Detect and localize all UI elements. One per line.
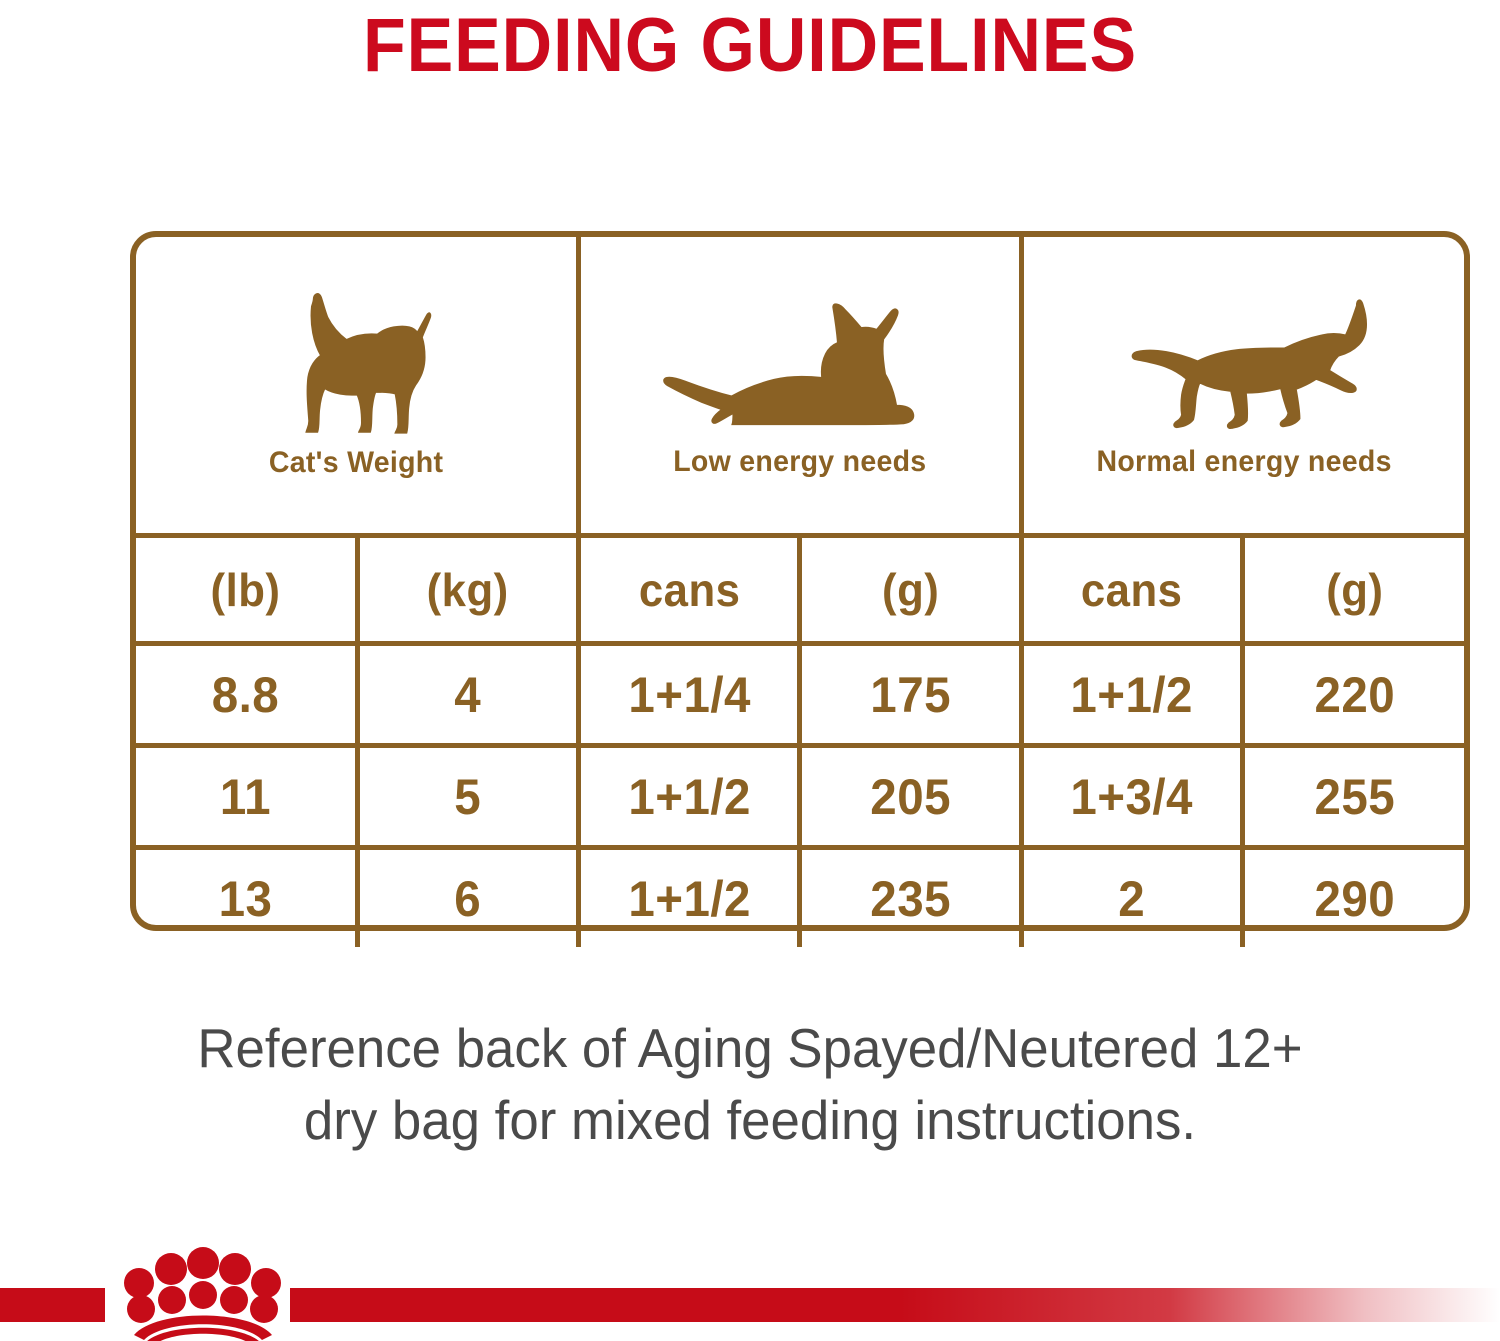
cat-walking-icon bbox=[1096, 291, 1392, 439]
cell-normal-cans: 2 bbox=[1027, 848, 1237, 948]
cat-standing-icon bbox=[261, 290, 452, 440]
reference-note-line-2: dry bag for mixed feeding instructions. bbox=[30, 1084, 1470, 1156]
cell-weight-lb: 13 bbox=[142, 848, 352, 948]
cell-low-cans: 1+1/4 bbox=[584, 644, 794, 746]
cell-normal-g: 255 bbox=[1248, 746, 1458, 848]
cell-low-g: 205 bbox=[806, 746, 1016, 848]
feeding-guidelines-table: Cat's Weight Low energy needs Normal ene… bbox=[130, 231, 1470, 931]
column-header-lb: (lb) bbox=[142, 536, 352, 644]
cell-low-g: 235 bbox=[806, 848, 1016, 948]
cell-weight-kg: 4 bbox=[363, 644, 573, 746]
column-header-norm-g: (g) bbox=[1248, 536, 1458, 644]
group-header-label: Cat's Weight bbox=[147, 446, 565, 480]
cell-low-cans: 1+1/2 bbox=[584, 746, 794, 848]
column-header-norm-cans: cans bbox=[1027, 536, 1237, 644]
cat-lying-icon bbox=[652, 291, 948, 439]
group-header-label: Normal energy needs bbox=[1035, 445, 1453, 479]
group-header-cats-weight: Cat's Weight bbox=[136, 237, 579, 536]
table-row: 13 6 1+1/2 235 2 290 bbox=[136, 848, 1464, 948]
column-header-low-g: (g) bbox=[806, 536, 1016, 644]
cell-low-g: 175 bbox=[806, 644, 1016, 746]
group-header-label: Low energy needs bbox=[592, 445, 1008, 479]
group-header-normal-energy: Normal energy needs bbox=[1021, 237, 1464, 536]
cell-weight-lb: 11 bbox=[142, 746, 352, 848]
cell-normal-g: 290 bbox=[1248, 848, 1458, 948]
cell-weight-kg: 6 bbox=[363, 848, 573, 948]
reference-note: Reference back of Aging Spayed/Neutered … bbox=[30, 1012, 1470, 1156]
page-title: FEEDING GUIDELINES bbox=[60, 0, 1440, 92]
table-column-header-row: (lb) (kg) cans (g) cans (g) bbox=[136, 536, 1464, 644]
royal-canin-crown-logo bbox=[104, 1243, 294, 1341]
table-group-header-row: Cat's Weight Low energy needs Normal ene… bbox=[136, 237, 1464, 536]
cell-normal-g: 220 bbox=[1248, 644, 1458, 746]
cell-normal-cans: 1+3/4 bbox=[1027, 746, 1237, 848]
table-row: 8.8 4 1+1/4 175 1+1/2 220 bbox=[136, 644, 1464, 746]
column-header-kg: (kg) bbox=[363, 536, 573, 644]
cell-normal-cans: 1+1/2 bbox=[1027, 644, 1237, 746]
cell-low-cans: 1+1/2 bbox=[584, 848, 794, 948]
table-row: 11 5 1+1/2 205 1+3/4 255 bbox=[136, 746, 1464, 848]
cell-weight-kg: 5 bbox=[363, 746, 573, 848]
reference-note-line-1: Reference back of Aging Spayed/Neutered … bbox=[197, 1017, 1302, 1079]
group-header-low-energy: Low energy needs bbox=[579, 237, 1022, 536]
column-header-low-cans: cans bbox=[584, 536, 794, 644]
cell-weight-lb: 8.8 bbox=[142, 644, 352, 746]
